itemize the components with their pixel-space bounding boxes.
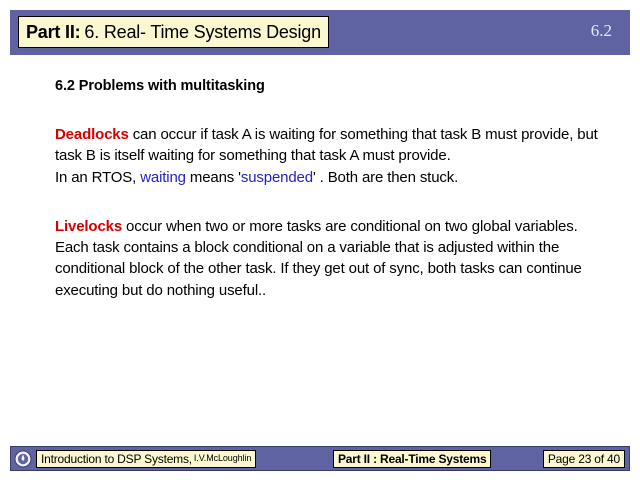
- slide-footer-banner: Introduction to DSP Systems, I.V.McLough…: [10, 446, 630, 471]
- keyword-deadlocks: Deadlocks: [55, 126, 129, 143]
- slide-title-part-label: Part II:: [26, 23, 80, 41]
- paragraph-deadlocks-line2-c: ' . Both are then stuck.: [313, 169, 458, 186]
- keyword-waiting: waiting: [140, 169, 186, 186]
- footer-course-box: Introduction to DSP Systems, I.V.McLough…: [36, 450, 256, 468]
- content-subheading: 6.2 Problems with multitasking: [55, 78, 615, 94]
- footer-part-label: Part II : Real-Time Systems: [338, 453, 486, 465]
- paragraph-livelocks-text: occur when two or more tasks are conditi…: [55, 218, 582, 299]
- section-number: 6.2: [591, 22, 612, 39]
- presentation-slide: Part II: 6. Real- Time Systems Design 6.…: [0, 0, 640, 480]
- footer-page-box: Page 23 of 40: [543, 450, 625, 468]
- keyword-suspended: suspended: [241, 169, 313, 186]
- paragraph-livelocks: Livelocks occur when two or more tasks a…: [55, 216, 615, 301]
- footer-course-author: I.V.McLoughlin: [192, 454, 251, 463]
- paragraph-deadlocks: Deadlocks can occur if task A is waiting…: [55, 124, 615, 188]
- paragraph-deadlocks-line2-a: In an RTOS,: [55, 169, 140, 186]
- keyword-livelocks: Livelocks: [55, 218, 122, 235]
- slide-title-box: Part II: 6. Real- Time Systems Design: [18, 16, 329, 48]
- paragraph-deadlocks-line2-b: means ': [186, 169, 241, 186]
- slide-content: 6.2 Problems with multitasking Deadlocks…: [55, 78, 615, 329]
- footer-course-title: Introduction to DSP Systems,: [41, 453, 192, 465]
- footer-part-box: Part II : Real-Time Systems: [333, 450, 491, 468]
- paragraph-deadlocks-text: can occur if task A is waiting for somet…: [55, 126, 598, 164]
- circular-seal-icon: [14, 450, 32, 468]
- slide-title-text: 6. Real- Time Systems Design: [80, 23, 320, 41]
- footer-page-label: Page 23 of 40: [548, 453, 620, 465]
- slide-header-banner: Part II: 6. Real- Time Systems Design 6.…: [10, 10, 630, 55]
